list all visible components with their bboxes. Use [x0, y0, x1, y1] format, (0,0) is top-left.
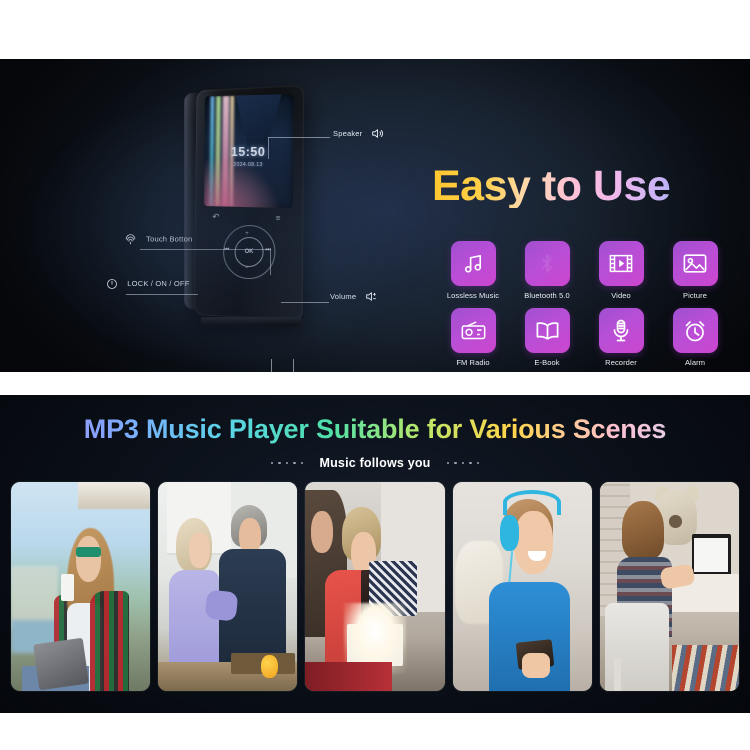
callout-touch-button: Touch Botton — [124, 233, 192, 246]
feature-picture[interactable]: Picture — [662, 241, 728, 300]
scene-photo-elderly-couple — [158, 482, 297, 691]
dots-left-icon — [271, 462, 304, 465]
menu-lines-icon: ≡ — [276, 215, 281, 224]
callout-lock-power: LOCK / ON / OFF — [106, 278, 189, 290]
feature-bluetooth[interactable]: Bluetooth 5.0 — [514, 241, 580, 300]
leader-line-typec-v — [271, 359, 272, 372]
feature-label: FM Radio — [456, 358, 489, 367]
feature-label: Picture — [683, 291, 707, 300]
scenes-subtitle-row: Music follows you — [0, 456, 750, 470]
feature-label: Video — [611, 291, 631, 300]
device-bottom-edge — [201, 317, 302, 326]
power-icon — [106, 278, 118, 290]
feature-video[interactable]: Video — [588, 241, 654, 300]
scene-photo-kid-headphones — [453, 482, 592, 691]
scenes-headline: MP3 Music Player Suitable for Various Sc… — [0, 414, 750, 445]
dots-right-icon — [447, 462, 480, 465]
lifestyle-photo-strip — [11, 482, 739, 691]
callout-touch-label: Touch Botton — [146, 234, 192, 243]
feature-fm-radio[interactable]: FM Radio — [440, 308, 506, 367]
speaker-icon — [370, 127, 384, 140]
feature-label: Alarm — [685, 358, 705, 367]
bluetooth-icon — [525, 241, 570, 286]
feature-icon-grid: Lossless Music Bluetooth 5.0 Video — [440, 241, 728, 367]
device-screen: 15:50 2024.08.13 — [204, 94, 294, 208]
panel-divider — [0, 372, 750, 395]
easy-to-use-panel: 15:50 2024.08.13 ↶ ≡ OK + − ⏮ ⏭ Speaker — [0, 59, 750, 372]
image-icon — [673, 241, 718, 286]
leader-line-speaker-v — [268, 137, 269, 159]
open-book-icon — [525, 308, 570, 353]
film-play-icon — [599, 241, 644, 286]
alarm-clock-icon — [673, 308, 718, 353]
feature-ebook[interactable]: E-Book — [514, 308, 580, 367]
volume-down-marker: − — [245, 265, 248, 271]
back-arrow-icon: ↶ — [212, 212, 219, 223]
scenes-subtitle: Music follows you — [319, 456, 430, 470]
ok-button: OK — [234, 237, 263, 267]
feature-lossless-music[interactable]: Lossless Music — [440, 241, 506, 300]
feature-recorder[interactable]: Recorder — [588, 308, 654, 367]
callout-speaker: Speaker — [333, 127, 384, 140]
fingerprint-icon — [124, 233, 137, 246]
feature-label: Recorder — [605, 358, 637, 367]
scene-photo-woman-coffee — [11, 482, 150, 691]
screen-date: 2024.08.13 — [204, 162, 293, 169]
feature-alarm[interactable]: Alarm — [662, 308, 728, 367]
leader-line-lock — [126, 294, 198, 295]
feature-label: Lossless Music — [447, 291, 499, 300]
callout-volume-label: Volume — [330, 292, 356, 301]
device-control-area: ↶ ≡ OK + − ⏮ ⏭ — [204, 210, 294, 304]
scene-photo-gift-box — [305, 482, 444, 691]
screen-clock: 15:50 — [204, 144, 293, 159]
feature-label: Bluetooth 5.0 — [524, 291, 570, 300]
leader-line-touch-v — [270, 249, 271, 275]
feature-label: E-Book — [534, 358, 559, 367]
leader-line-speaker-h — [268, 137, 330, 138]
callout-speaker-label: Speaker — [333, 129, 362, 138]
volume-up-marker: + — [245, 231, 248, 237]
volume-icon — [364, 290, 379, 303]
microphone-icon — [599, 308, 644, 353]
mp3-player-illustration: 15:50 2024.08.13 ↶ ≡ OK + − ⏮ ⏭ — [178, 79, 318, 344]
music-note-icon — [451, 241, 496, 286]
leader-line-volume — [281, 302, 329, 303]
leader-line-touch — [140, 249, 270, 250]
leader-line-sd-v — [293, 359, 294, 372]
callout-lock-label: LOCK / ON / OFF — [127, 279, 189, 288]
scene-photo-kid-desk — [600, 482, 739, 691]
radio-icon — [451, 308, 496, 353]
callout-volume: Volume — [330, 290, 379, 303]
easy-to-use-headline: Easy to Use — [432, 165, 722, 208]
